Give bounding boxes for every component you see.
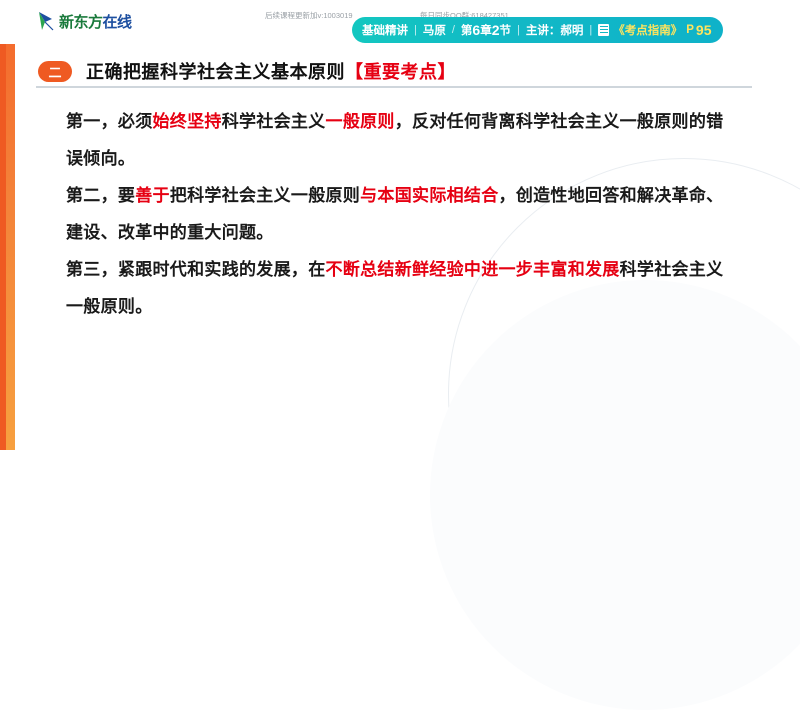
- page-title: 正确把握科学社会主义基本原则【重要考点】: [86, 58, 456, 84]
- section-heading: 二 正确把握科学社会主义基本原则【重要考点】: [38, 58, 456, 84]
- course-info-banner: 基础精讲 | 马原 / 第6章2节 | 主讲： 郝明 | 《考点指南》 P 95: [352, 17, 723, 43]
- heading-divider: [36, 86, 752, 88]
- course-type: 基础精讲: [362, 22, 408, 38]
- para-1: 第一，必须始终坚持科学社会主义一般原则，反对任何背离科学社会主义一般原则的错误倾…: [66, 103, 726, 177]
- content-body: 第一，必须始终坚持科学社会主义一般原则，反对任何背离科学社会主义一般原则的错误倾…: [66, 103, 726, 325]
- para-1-run-0: 第一，必须: [66, 112, 153, 131]
- para-1-run-2: 科学社会主义: [222, 112, 326, 131]
- para-1-run-1: 始终坚持: [153, 112, 222, 131]
- section-number: 2: [492, 22, 500, 38]
- para-2: 第二，要善于把科学社会主义一般原则与本国实际相结合，创造性地回答和解决革命、建设…: [66, 177, 726, 251]
- pill-separator-3: |: [517, 24, 520, 36]
- teacher-name: 郝明: [560, 22, 583, 38]
- book-title: 《考点指南》: [613, 22, 682, 38]
- update-note: 后续课程更新加v:1003019: [265, 10, 353, 21]
- section-suffix: 节: [500, 22, 512, 38]
- chapter-prefix: 第: [461, 22, 473, 38]
- para-3-run-0: 第三，紧跟时代和实践的发展，在: [66, 260, 326, 279]
- chapter-number: 6: [472, 22, 480, 38]
- para-3-run-1: 不断总结新鲜经验中进一步丰富和发展: [326, 260, 620, 279]
- pill-separator-1: |: [414, 24, 417, 36]
- para-2-run-2: 把科学社会主义一般原则: [170, 186, 360, 205]
- left-accent-bar-inner: [0, 0, 6, 450]
- page-label: P: [686, 24, 694, 36]
- para-1-run-3: 一般原则: [326, 112, 395, 131]
- pill-separator-2: /: [452, 24, 455, 36]
- chapter-section: 第6章2节: [461, 22, 511, 38]
- page-number: 95: [696, 22, 712, 38]
- section-number-badge: 二: [38, 61, 72, 82]
- course-subject: 马原: [423, 22, 446, 38]
- chapter-mid: 章: [480, 22, 492, 38]
- para-2-run-3: 与本国实际相结合: [360, 186, 498, 205]
- brand-logo-text: 新东方在线: [59, 11, 132, 32]
- brand-logo: 新东方在线: [36, 10, 132, 32]
- para-2-run-0: 第二，要: [66, 186, 135, 205]
- book-icon: [598, 24, 609, 36]
- teacher-label: 主讲：: [526, 22, 561, 38]
- pill-separator-4: |: [589, 24, 592, 36]
- para-2-run-1: 善于: [135, 186, 170, 205]
- para-3: 第三，紧跟时代和实践的发展，在不断总结新鲜经验中进一步丰富和发展科学社会主义一般…: [66, 251, 726, 325]
- kite-logo-icon: [36, 10, 56, 32]
